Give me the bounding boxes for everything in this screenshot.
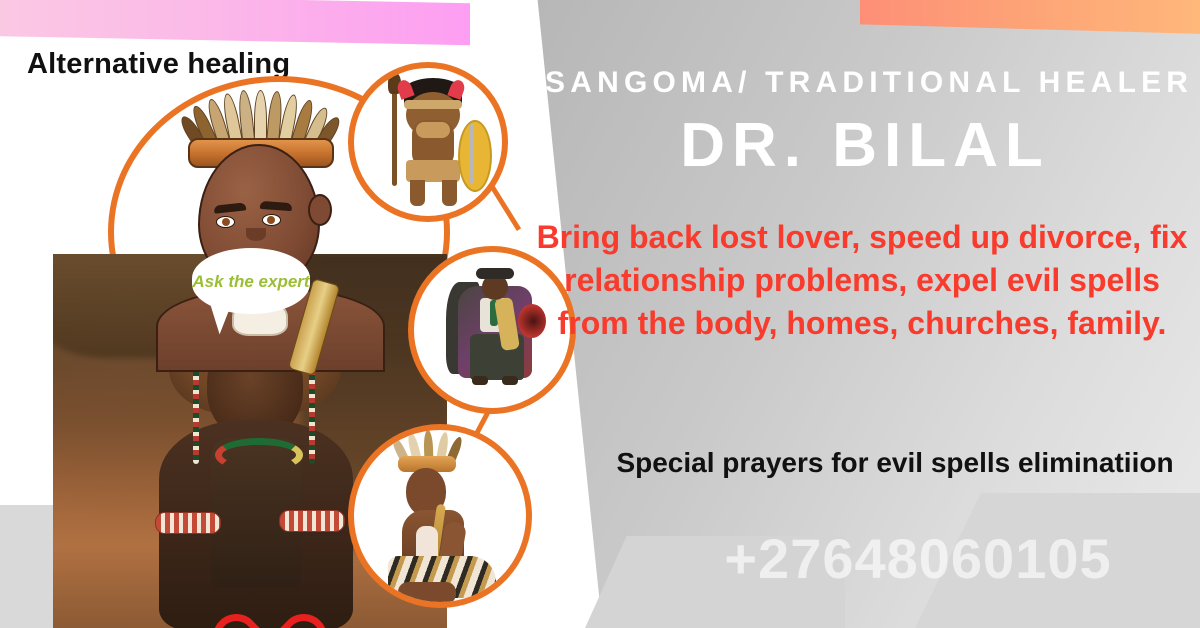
- page-title: Alternative healing: [27, 48, 290, 81]
- armband-left: [155, 512, 221, 534]
- gray-corner-bottom-left: [0, 505, 53, 628]
- pink-top-banner: [0, 0, 470, 45]
- speech-bubble-label: Ask the expert: [192, 272, 309, 291]
- sangoma-leg: [398, 582, 456, 604]
- red-heart-overlay: [231, 587, 297, 628]
- photo-person-necklace: [215, 438, 303, 472]
- phone-watermark: +27648060105: [640, 526, 1196, 591]
- hat-icon: [476, 268, 514, 279]
- thumbnail-zulu-warrior-cartoon[interactable]: [348, 62, 508, 222]
- healer-ear: [308, 194, 332, 226]
- spear-icon: [392, 80, 397, 186]
- thumbnail-crouching-sangoma[interactable]: [348, 424, 532, 608]
- healer-eye-right: [262, 214, 281, 226]
- poster-canvas: Alternative healing +27648060105 Dr. Bil…: [0, 0, 1200, 628]
- poster-subtitle: SANGOMA/ TRADITIONAL HEALER: [545, 66, 1185, 100]
- warrior-kilt: [406, 160, 460, 182]
- healer-name: DR. BILAL: [545, 110, 1185, 181]
- healer-nose: [246, 228, 266, 241]
- shield-icon: [458, 120, 492, 192]
- armband-right: [279, 510, 345, 532]
- robe-shoe-right: [502, 376, 518, 385]
- warrior-leg-right: [442, 180, 457, 206]
- warrior-chest-fur: [416, 122, 450, 138]
- warrior-headband: [404, 100, 462, 109]
- speech-bubble: Ask the expert: [192, 248, 310, 314]
- healer-eye-left: [216, 216, 235, 228]
- services-text: Bring back lost lover, speed up divorce,…: [536, 216, 1188, 345]
- shield-stick: [470, 124, 474, 184]
- prayers-text: Special prayers for evil spells eliminat…: [600, 443, 1190, 483]
- robe-shoe-left: [472, 376, 488, 385]
- warrior-leg-left: [410, 180, 425, 206]
